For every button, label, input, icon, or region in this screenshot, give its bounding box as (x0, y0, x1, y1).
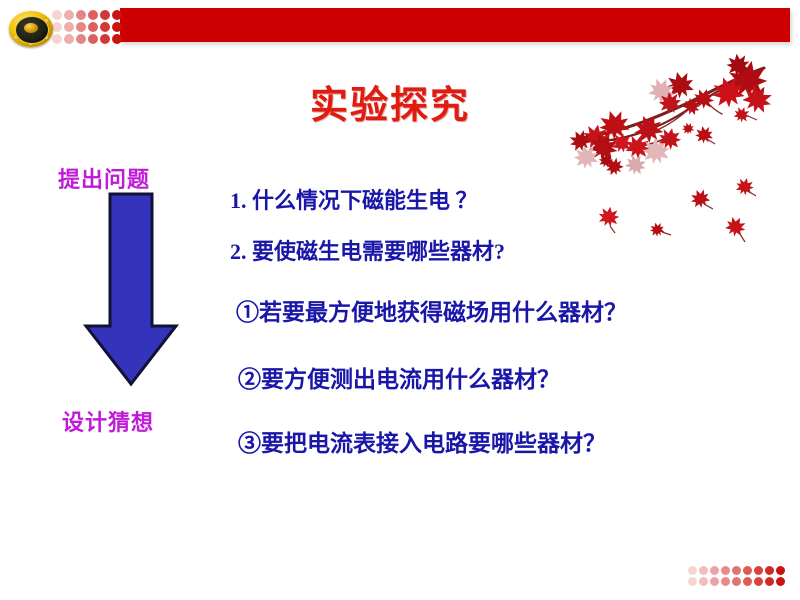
decorative-dot (743, 566, 752, 575)
question-line-4: ②要方便测出电流用什么器材？ (238, 360, 560, 394)
decorative-dot (721, 577, 730, 586)
decorative-dot (88, 34, 98, 44)
stage-label-pose-question: 提出问题 (58, 162, 150, 194)
decorative-dot (710, 577, 719, 586)
decorative-dot (710, 566, 719, 575)
seal-core (24, 23, 38, 33)
decorative-dot (112, 22, 122, 32)
decorative-dot (76, 22, 86, 32)
maple-branch-lines (582, 68, 764, 148)
slide-canvas: 实验探究 提出问题 设计猜想 1. 什么情况下磁能生电 ？ 2. 要使磁生电需要… (0, 0, 800, 600)
decorative-dot (52, 10, 62, 20)
decorative-dot (64, 10, 74, 20)
decorative-dot (732, 577, 741, 586)
decorative-dot (754, 566, 763, 575)
decorative-dot (112, 10, 122, 20)
question-line-5: ③要把电流表接入电路要哪些器材？ (238, 424, 606, 458)
decorative-dot (732, 566, 741, 575)
decorative-dot (64, 34, 74, 44)
decorative-dot (721, 566, 730, 575)
decorative-dot (765, 566, 774, 575)
decorative-dot (100, 10, 110, 20)
decorative-dot (52, 22, 62, 32)
maple-branch-illustration (552, 46, 800, 261)
page-title: 实验探究 (310, 74, 470, 129)
decorative-dot (76, 34, 86, 44)
decorative-dot (699, 577, 708, 586)
decorative-dot (52, 34, 62, 44)
decorative-dot (776, 566, 785, 575)
decorative-dot (688, 566, 697, 575)
seal-tick (14, 19, 17, 22)
stage-label-design-hypothesis: 设计猜想 (62, 405, 154, 437)
question-line-2: 2. 要使磁生电需要哪些器材? (230, 234, 505, 266)
decorative-dot (765, 577, 774, 586)
decorative-dot (76, 10, 86, 20)
question-line-1: 1. 什么情况下磁能生电 ？ (230, 183, 478, 215)
decorative-dot (688, 577, 697, 586)
decorative-dot (88, 10, 98, 20)
decorative-dot (100, 34, 110, 44)
decorative-dot (743, 577, 752, 586)
maple-leaf-stems (610, 116, 757, 242)
header-dot-grid (52, 10, 122, 44)
decorative-dot (112, 34, 122, 44)
down-arrow-icon (78, 192, 184, 388)
header-red-band (120, 8, 790, 42)
decorative-dot (754, 577, 763, 586)
decorative-dot (776, 577, 785, 586)
question-line-3: ①若要最方便地获得磁场用什么器材？ (236, 293, 627, 327)
maple-leaf-cluster (566, 52, 777, 240)
footer-dot-grid (688, 566, 785, 586)
decorative-dot (88, 22, 98, 32)
decorative-dot (64, 22, 74, 32)
decorative-dot (699, 566, 708, 575)
school-seal-logo-icon (9, 11, 53, 47)
decorative-dot (100, 22, 110, 32)
